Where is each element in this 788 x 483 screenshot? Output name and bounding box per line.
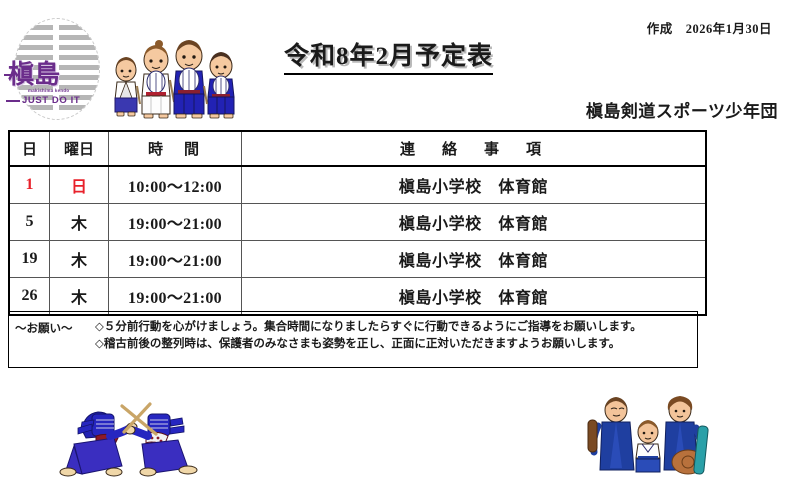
notice-label: ～お願い～ <box>15 320 73 336</box>
logo-romaji: makishima kendo <box>28 88 69 93</box>
kendo-children-illustration <box>104 24 250 120</box>
schedule-table: 日 曜日 時 間 連 絡 事 項 1 日 10:00～12:00 槇島小学校 体… <box>8 130 707 316</box>
organization-name: 槇島剣道スポーツ少年団 <box>586 97 778 122</box>
cell-time: 19:00～21:00 <box>109 204 242 241</box>
table-row: 19 木 19:00～21:00 槇島小学校 体育館 <box>9 241 706 278</box>
club-logo: 槇島 makishima kendo JUST DO IT <box>4 16 108 120</box>
table-row: 5 木 19:00～21:00 槇島小学校 体育館 <box>9 204 706 241</box>
cell-note: 槇島小学校 体育館 <box>242 241 707 278</box>
notice-box: ～お願い～ ◇５分前行動を心がけましょう。集合時間になりましたらすぐに行動できる… <box>8 311 698 368</box>
logo-kanji: 槇島 <box>8 62 60 88</box>
column-header-time: 時 間 <box>109 131 242 166</box>
cell-weekday: 木 <box>50 278 109 316</box>
created-date: 作成 2026年1月30日 <box>647 18 772 37</box>
cell-time: 10:00～12:00 <box>109 166 242 204</box>
cell-note: 槇島小学校 体育館 <box>242 166 707 204</box>
cell-time: 19:00～21:00 <box>109 278 242 316</box>
cell-day: 19 <box>9 241 50 278</box>
cell-time: 19:00～21:00 <box>109 241 242 278</box>
cell-day: 1 <box>9 166 50 204</box>
cell-day: 26 <box>9 278 50 316</box>
cell-weekday: 日 <box>50 166 109 204</box>
cell-note: 槇島小学校 体育館 <box>242 278 707 316</box>
notice-line: ◇５分前行動を心がけましょう。集合時間になりましたらすぐに行動できるようにご指導… <box>95 319 691 336</box>
cell-note: 槇島小学校 体育館 <box>242 204 707 241</box>
cell-weekday: 木 <box>50 241 109 278</box>
table-row: 26 木 19:00～21:00 槇島小学校 体育館 <box>9 278 706 316</box>
column-header-day: 日 <box>9 131 50 166</box>
kendo-duelists-illustration <box>52 388 227 480</box>
page-title: 令和8年2月予定表 <box>284 36 493 75</box>
table-header-row: 日 曜日 時 間 連 絡 事 項 <box>9 131 706 166</box>
schedule-document: 作成 2026年1月30日 槇島 makishima kendo JUST DO… <box>0 0 788 483</box>
logo-tagline: JUST DO IT <box>22 95 80 106</box>
table-row: 1 日 10:00～12:00 槇島小学校 体育館 <box>9 166 706 204</box>
logo-rule-bottom <box>6 100 20 102</box>
cell-weekday: 木 <box>50 204 109 241</box>
notice-lines: ◇５分前行動を心がけましょう。集合時間になりましたらすぐに行動できるようにご指導… <box>95 319 691 353</box>
kendo-family-illustration <box>576 390 726 480</box>
cell-day: 5 <box>9 204 50 241</box>
column-header-notes: 連 絡 事 項 <box>242 131 707 166</box>
column-header-weekday: 曜日 <box>50 131 109 166</box>
notice-line: ◇稽古前後の整列時は、保護者のみなさまも姿勢を正し、正面に正対いただきますようお… <box>95 336 691 353</box>
